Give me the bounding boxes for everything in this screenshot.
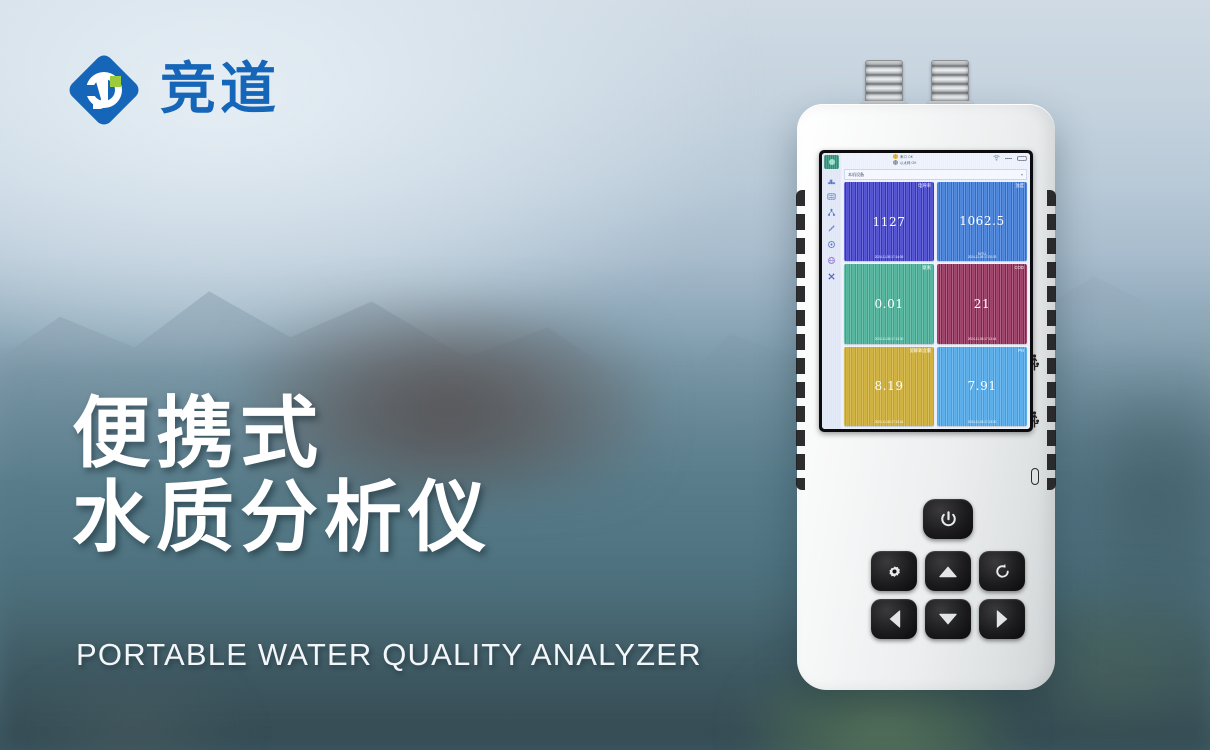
gear-icon [886,563,903,580]
measurement-value: 1127 [847,188,931,256]
chevron-down-icon: ▾ [1021,172,1023,177]
brand-name: 竞道 [160,62,280,118]
screen-statusbar: 串口 OK 以太网 OK [841,153,1030,169]
usb-c-port-icon [1031,468,1039,485]
minimize-icon[interactable] [1005,158,1012,159]
measurement-value: 21 [940,271,1024,339]
settings-icon[interactable] [827,240,836,249]
wifi-icon [993,155,1000,161]
left-button[interactable] [871,599,917,639]
measurement-name: 浊度 [940,184,1024,188]
device-screen-frame: 串口 OK 以太网 OK [819,150,1033,432]
status-item: 串口 OK [893,154,917,159]
brand-logo: 竞道 [66,52,280,128]
sensor-connector-1-icon [865,60,903,106]
measurement-card[interactable]: COD 21 2024-11-08 17:13:44 [937,264,1027,343]
hero-title: 便携式 水质分析仪 [72,392,492,560]
measurement-time: 2024-11-08 17:14:05 [847,256,931,259]
triangle-left-icon [888,609,901,629]
measurement-value: 0.01 [847,271,931,339]
measurement-time: 2024-11-08 17:13:44 [940,338,1024,341]
battery-icon [1017,156,1027,161]
measurement-name: COD [940,266,1024,270]
triangle-right-icon [996,609,1009,629]
marketing-banner: 竞道 便携式 水质分析仪 PORTABLE WATER QUALITY ANAL… [0,0,1210,750]
status-label: 串口 OK [900,154,913,159]
jingdao-diamond-logo-icon [66,52,142,128]
measurement-card[interactable]: 溶解氧含量 8.19 2024-11-08 17:13:44 [844,347,934,426]
measurement-time: 2024-11-08 17:00:03 [940,256,1024,259]
close-icon[interactable] [827,272,836,281]
up-button[interactable] [925,551,971,591]
device-analyzer: 串口 OK 以太网 OK [775,60,1075,690]
measurement-time: 2024-11-08 17:13:44 [847,421,931,424]
hero-title-line1: 便携式 [72,389,324,479]
measurement-value: 8.19 [847,353,931,421]
screen-status-items: 串口 OK 以太网 OK [893,154,917,165]
power-button[interactable] [923,499,973,539]
measurement-name: PH [940,349,1024,353]
refresh-button[interactable] [979,551,1025,591]
background-vegetation-3 [24,675,242,750]
measurement-time: 2024-11-08 17:13:30 [940,421,1024,424]
hero-subtitle: PORTABLE WATER QUALITY ANALYZER [76,637,702,673]
down-button[interactable] [925,599,971,639]
measurement-card[interactable]: 浊度 1062.5 NTU 2024-11-08 17:00:03 [937,182,1027,261]
screen-status-icons [993,154,1027,161]
measurement-value: 7.91 [940,353,1024,421]
screen-main: 串口 OK 以太网 OK [841,153,1030,429]
measurement-name: 溶解氧含量 [847,349,931,353]
network-icon[interactable] [827,208,836,217]
measurement-name: 电导率 [847,184,931,188]
status-dot-icon [893,160,898,165]
device-select-label: 本机设备 [848,172,864,178]
device-grip-left [796,190,805,490]
hero-title-line2: 水质分析仪 [72,476,492,560]
globe-icon[interactable] [827,256,836,265]
app-logo-icon [824,155,839,169]
list-icon[interactable] [827,192,836,201]
measurement-card[interactable]: PH 7.91 2024-11-08 17:13:30 [937,347,1027,426]
power-icon [939,510,958,529]
measurement-card[interactable]: 电导率 1127 2024-11-08 17:14:05 [844,182,934,261]
measurement-name: 氨氮 [847,266,931,270]
edit-icon[interactable] [827,224,836,233]
device-grip-right [1047,190,1056,490]
device-screen[interactable]: 串口 OK 以太网 OK [822,153,1030,429]
status-label: 以太网 OK [900,160,917,165]
measurement-time: 2024-11-08 17:13:30 [847,338,931,341]
screen-sidebar [822,153,841,429]
triangle-down-icon [938,613,958,626]
status-dot-icon [893,154,898,159]
sensor-connector-2-icon [931,60,969,106]
measurement-value: 1062.5 [940,188,1024,254]
chart-icon[interactable] [827,176,836,185]
right-button[interactable] [979,599,1025,639]
status-item: 以太网 OK [893,160,917,165]
device-select-dropdown[interactable]: 本机设备 ▾ [844,169,1027,180]
refresh-icon [994,563,1011,580]
measurement-card[interactable]: 氨氮 0.01 2024-11-08 17:13:30 [844,264,934,343]
device-body: 串口 OK 以太网 OK [797,104,1055,690]
measurement-grid: 电导率 1127 2024-11-08 17:14:05 浊度 1062.5 N… [841,182,1030,429]
triangle-up-icon [938,565,958,578]
settings-button[interactable] [871,551,917,591]
